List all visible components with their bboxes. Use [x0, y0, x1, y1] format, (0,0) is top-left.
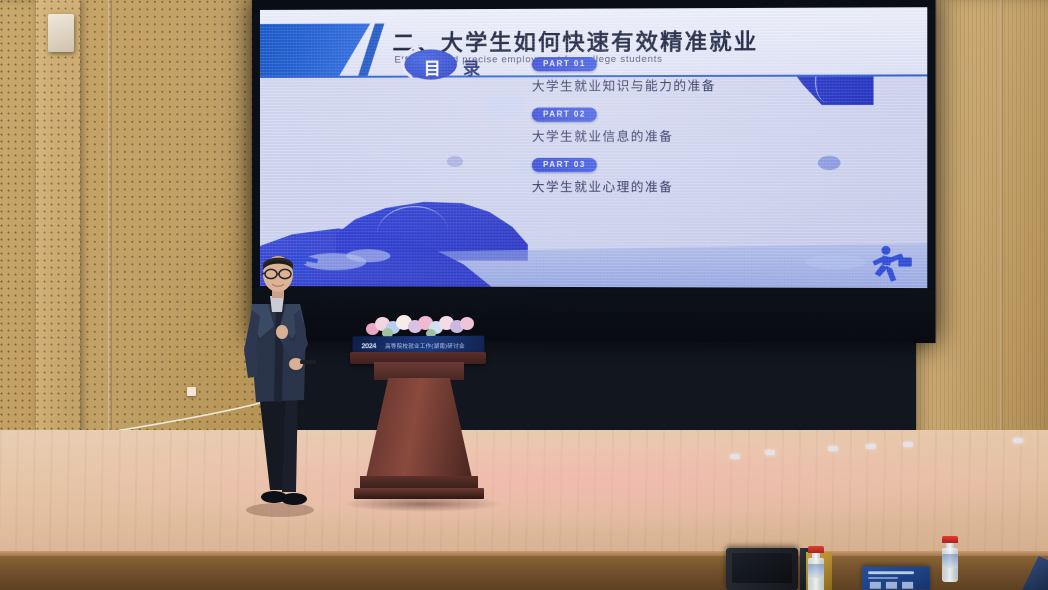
agenda-item: PART 02 大学生就业信息的准备 [532, 103, 880, 145]
title-band-accent [260, 24, 370, 76]
agenda-item: PART 01 大学生就业知识与能力的准备 [532, 52, 880, 94]
decor-cloud [346, 249, 390, 262]
agenda-list: PART 01 大学生就业知识与能力的准备 PART 02 大学生就业信息的准备… [532, 52, 880, 204]
presenter-figure [234, 252, 326, 518]
placard-block [902, 582, 913, 589]
bottle-cap [808, 546, 824, 553]
podium-body [366, 378, 472, 478]
agenda-item: PART 03 大学生就业心理的准备 [532, 154, 880, 196]
placard-block [870, 582, 881, 589]
bottle-body [808, 558, 824, 590]
presentation-slide: 二、大学生如何快速有效精准就业 Effective and precise em… [260, 7, 927, 288]
decor-cloud [806, 254, 866, 269]
decor-square [487, 98, 523, 118]
bottle-label [942, 554, 958, 568]
water-bottle [942, 536, 958, 582]
bottle-label [808, 564, 824, 578]
toc-label-second: 录 [463, 54, 480, 79]
floor-marker [1013, 438, 1023, 443]
runner-icon [859, 243, 913, 286]
agenda-badge: PART 01 [532, 57, 597, 71]
led-screen-wall: 二、大学生如何快速有效精准就业 Effective and precise em… [252, 0, 936, 343]
floor-marker [828, 446, 838, 451]
agenda-badge: PART 03 [532, 158, 597, 172]
wall-seam [108, 0, 112, 468]
placard-text-line [868, 577, 898, 579]
podium-base [354, 488, 484, 499]
decor-dot [447, 156, 463, 167]
placard-block [886, 582, 897, 589]
floor-marker [765, 450, 775, 455]
bottle-cap [942, 536, 958, 543]
monitor [726, 548, 798, 590]
bottle-body [942, 548, 958, 582]
name-placard [862, 567, 931, 590]
water-bottle [808, 546, 824, 590]
placard-text-line [868, 571, 914, 574]
wall-speaker-box [48, 14, 74, 52]
floor-marker [866, 444, 876, 449]
agenda-badge: PART 02 [532, 107, 597, 121]
monitor-screen [732, 553, 792, 583]
agenda-text: 大学生就业知识与能力的准备 [532, 74, 880, 94]
floor-marker [903, 442, 913, 447]
wall-outlet [187, 387, 196, 396]
podium: 2024 高等院校就业工作(湖南)研讨会 [352, 318, 484, 510]
agenda-text: 大学生就业心理的准备 [532, 176, 880, 195]
agenda-text: 大学生就业信息的准备 [532, 125, 880, 145]
podium-neck [374, 362, 464, 380]
presentation-hall-scene: 二、大学生如何快速有效精准就业 Effective and precise em… [0, 0, 1048, 590]
podium-banner-text: 高等院校就业工作(湖南)研讨会 [385, 342, 465, 350]
podium-banner-logo: 2024 [361, 341, 376, 350]
toc-label-first: 目 [424, 54, 441, 79]
floor-marker [730, 454, 740, 459]
